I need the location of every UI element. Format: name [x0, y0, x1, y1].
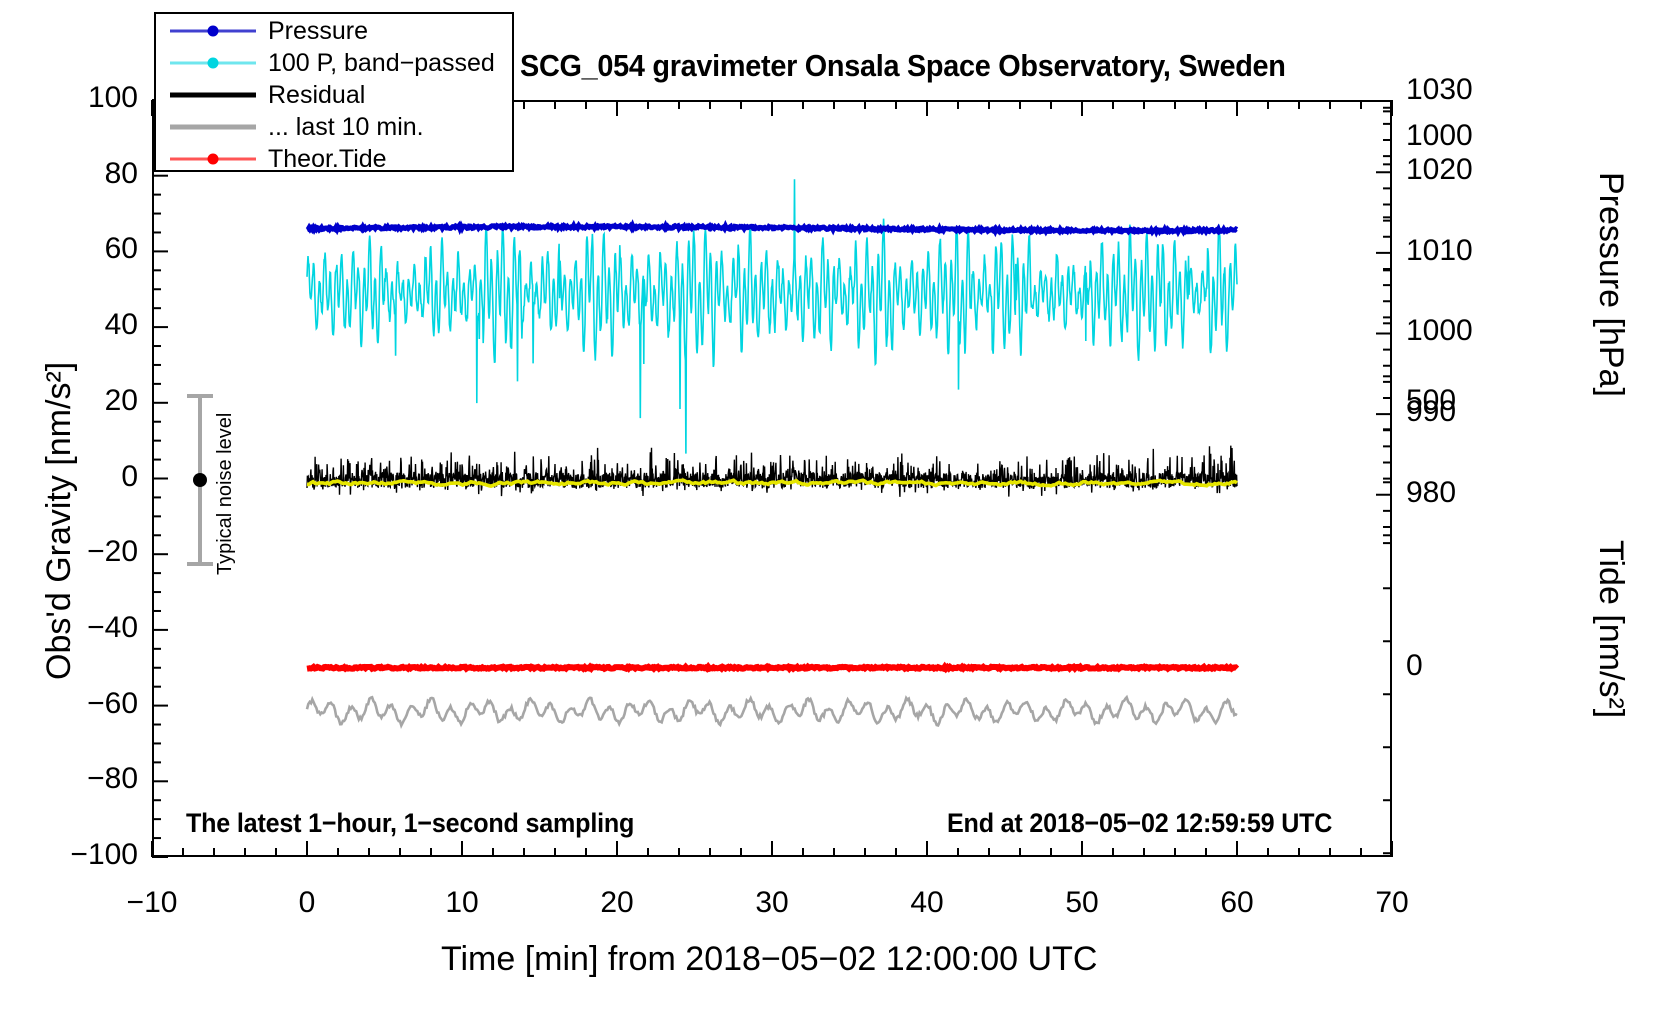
right-pressure-axis-title: Pressure [hPa] — [1591, 172, 1630, 397]
y-axis-title: Obs'd Gravity [nm/s²] — [40, 362, 79, 680]
axis-tick-label: 1020 — [1406, 153, 1506, 187]
axis-tick-label: 20 — [547, 886, 687, 920]
axis-tick-label: 40 — [0, 308, 138, 342]
axis-tick-label: −80 — [0, 762, 138, 796]
axis-tick-label: −10 — [82, 886, 222, 920]
legend-swatch-residual — [170, 80, 256, 110]
annotation-bottom-right: End at 2018−05−02 12:59:59 UTC — [947, 808, 1332, 839]
axis-tick-label: −100 — [0, 838, 138, 872]
legend-item[interactable]: ... last 10 min. — [156, 112, 512, 142]
legend-item[interactable]: Pressure — [156, 16, 512, 46]
legend-item[interactable]: Residual — [156, 80, 512, 110]
axis-tick-label: 60 — [1167, 886, 1307, 920]
axis-tick-label: 100 — [0, 81, 138, 115]
chart-figure: SCG_054 gravimeter Onsala Space Observat… — [0, 0, 1660, 1020]
axis-tick-label: 980 — [1406, 476, 1506, 510]
axis-tick-label: 500 — [1406, 384, 1536, 418]
legend-label: 100 P, band−passed — [268, 49, 495, 78]
axis-tick-label: 1010 — [1406, 234, 1506, 268]
legend-label: Theor.Tide — [268, 145, 387, 174]
axis-tick-label: 1000 — [1406, 119, 1536, 153]
axis-tick-label: 1000 — [1406, 314, 1506, 348]
axis-tick-label: 0 — [237, 886, 377, 920]
legend-label: Pressure — [268, 17, 368, 46]
axis-tick-label: 10 — [392, 886, 532, 920]
axis-tick-label: 70 — [1322, 886, 1462, 920]
annotation-bottom-left: The latest 1−hour, 1−second sampling — [186, 808, 634, 839]
typical-noise-label: Typical noise level — [214, 413, 237, 575]
legend-swatch-bandpassed — [170, 48, 256, 78]
legend-swatch-last10min — [170, 112, 256, 142]
axis-tick-label: 60 — [0, 232, 138, 266]
axis-tick-label: 1030 — [1406, 73, 1506, 107]
axis-tick-label: 30 — [702, 886, 842, 920]
axis-tick-label: 0 — [1406, 649, 1536, 683]
right-tide-axis-title: Tide [nm/s²] — [1591, 540, 1630, 718]
legend-item[interactable]: Theor.Tide — [156, 144, 512, 174]
legend-label: ... last 10 min. — [268, 113, 424, 142]
axis-tick-label: 80 — [0, 157, 138, 191]
legend-label: Residual — [268, 81, 365, 110]
legend-swatch-theortide — [170, 144, 256, 174]
x-axis-title: Time [min] from 2018−05−02 12:00:00 UTC — [441, 940, 1097, 979]
chart-legend: Pressure 100 P, band−passed Residual ...… — [154, 12, 514, 172]
axis-tick-label: −60 — [0, 687, 138, 721]
axis-tick-label: 40 — [857, 886, 997, 920]
legend-swatch-pressure — [170, 16, 256, 46]
axis-tick-label: 50 — [1012, 886, 1152, 920]
legend-item[interactable]: 100 P, band−passed — [156, 48, 512, 78]
